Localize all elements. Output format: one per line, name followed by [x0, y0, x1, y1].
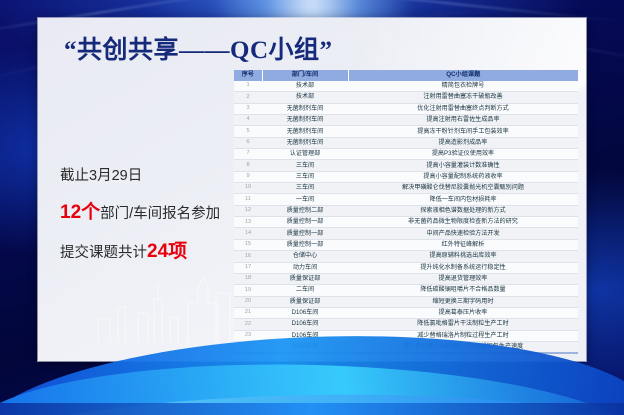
table-row: 20质量保证部缩短更换三期字码用时: [234, 296, 578, 307]
table-row: 18质量保证部提高退货管理效率: [234, 273, 578, 284]
content-panel: “共创共享——QC小组” 截止3月29日 12个部门/车间报名参加 提交课题共计…: [38, 18, 586, 361]
row-index: 14: [234, 228, 262, 239]
table-row: 10三车间解决甲磺酸仑伐替尼胶囊抛光机空囊甄别问题: [234, 183, 578, 194]
row-department: D106车间: [262, 341, 348, 353]
row-index: 9: [234, 171, 262, 182]
stat-departments-count: 12个: [60, 202, 100, 223]
row-department: 三车间: [262, 183, 348, 194]
table-row: 3无菌制剂车间优化注射用雷替曲塞终点判断方式: [234, 103, 578, 114]
row-department: 质量保证部: [262, 273, 348, 284]
row-department: 无菌制剂车间: [262, 137, 348, 148]
row-department: 质量控制一部: [262, 228, 348, 239]
decorative-wave: [0, 357, 624, 415]
row-department: 质量控制二部: [262, 205, 348, 216]
row-department: 无菌制剂车间: [262, 115, 348, 126]
row-index: 15: [234, 239, 262, 250]
summary-stats: 截止3月29日 12个部门/车间报名参加 提交课题共计24项: [60, 168, 260, 279]
table-row: 5无菌制剂车间提高冻干粉针剂车间手工包装效率: [234, 126, 578, 137]
row-department: 认证管理部: [262, 149, 348, 160]
row-department: 二车间: [262, 285, 348, 296]
row-index: 2: [234, 92, 262, 103]
row-department: 技术部: [262, 92, 348, 103]
row-index: 17: [234, 262, 262, 273]
row-topic: 提高冻干粉针剂车间手工包装效率: [348, 126, 578, 137]
row-topic: 提高小容量配制系统药液收率: [348, 171, 578, 182]
stat-topics-label: 提交课题共计: [60, 245, 147, 261]
table-row: 6无菌制剂车间提高造影剂成品率: [234, 137, 578, 148]
table-row: 12质量控制二部探索液相色谱数据处理的新方式: [234, 205, 578, 216]
row-topic: 提高注射用右雷佐生成品率: [348, 115, 578, 126]
stat-departments-label: 部门/车间报名参加: [100, 206, 220, 222]
column-header-topic: QC小组课题: [348, 70, 578, 81]
row-department: 动力车间: [262, 262, 348, 273]
page-title: “共创共享——QC小组”: [64, 30, 333, 66]
row-topic: 提升纯化水制备系统运行稳定性: [348, 262, 578, 273]
stat-deadline: 截止3月29日: [60, 168, 260, 185]
row-index: 12: [234, 205, 262, 216]
row-topic: 提高退货管理效率: [348, 273, 578, 284]
table-row: 1技术部精简包衣检牌号: [234, 81, 578, 92]
row-index: 5: [234, 126, 262, 137]
row-department: 仓储中心: [262, 251, 348, 262]
row-index: 4: [234, 115, 262, 126]
row-topic: 减少替格瑞洛片制粒过程生产工时: [348, 330, 578, 341]
row-topic: 降低氯吡格雷片干法制粒生产工时: [348, 319, 578, 330]
column-header-dept: 部门/车间: [262, 70, 348, 81]
row-department: 一车间: [262, 194, 348, 205]
row-department: D106车间: [262, 330, 348, 341]
row-index: 6: [234, 137, 262, 148]
table-row: 15质量控制一部红外特征峰解析: [234, 239, 578, 250]
row-index: 22: [234, 319, 262, 330]
row-topic: 提高造影剂成品率: [348, 137, 578, 148]
row-index: 3: [234, 103, 262, 114]
row-topic: 注射用雷替曲塞冻干破瓶改善: [348, 92, 578, 103]
row-department: 无菌制剂车间: [262, 103, 348, 114]
row-topic: 降低碳酸镧咀嚼片不合格品数量: [348, 285, 578, 296]
row-index: 23: [234, 330, 262, 341]
table-row: 16仓储中心提高原辅料挑选出库效率: [234, 251, 578, 262]
table-row: 24D106车间提升依伦平（14片/板）CA联线铝包生产速度: [234, 341, 578, 353]
table-header-row: 序号 部门/车间 QC小组课题: [234, 70, 578, 81]
decorative-wave-base: [0, 403, 624, 415]
stat-departments: 12个部门/车间报名参加: [60, 202, 260, 224]
row-department: 质量控制一部: [262, 239, 348, 250]
row-department: 三车间: [262, 171, 348, 182]
row-topic: 缩短更换三期字码用时: [348, 296, 578, 307]
row-index: 20: [234, 296, 262, 307]
slide-background: “共创共享——QC小组” 截止3月29日 12个部门/车间报名参加 提交课题共计…: [0, 0, 624, 415]
row-department: 无菌制剂车间: [262, 126, 348, 137]
table-row: 4无菌制剂车间提高注射用右雷佐生成品率: [234, 115, 578, 126]
row-department: 三车间: [262, 160, 348, 171]
stat-topics: 提交课题共计24项: [60, 241, 260, 263]
table-row: 9三车间提高小容量配制系统药液收率: [234, 171, 578, 182]
decorative-wave: [0, 389, 624, 415]
table-row: 22D106车间降低氯吡格雷片干法制粒生产工时: [234, 319, 578, 330]
table-row: 19二车间降低碳酸镧咀嚼片不合格品数量: [234, 285, 578, 296]
row-index: 21: [234, 307, 262, 318]
row-topic: 提高小容量灌装计数准确性: [348, 160, 578, 171]
row-index: 1: [234, 81, 262, 92]
row-department: 质量控制一部: [262, 217, 348, 228]
row-topic: 提高P3验证仪使用效率: [348, 149, 578, 160]
row-index: 24: [234, 341, 262, 353]
row-index: 8: [234, 160, 262, 171]
table-row: 2技术部注射用雷替曲塞冻干破瓶改善: [234, 92, 578, 103]
row-topic: 提升依伦平（14片/板）CA联线铝包生产速度: [348, 341, 578, 353]
qc-topics-table: 序号 部门/车间 QC小组课题 1技术部精简包衣检牌号2技术部注射用雷替曲塞冻干…: [234, 70, 578, 354]
row-topic: 提高原辅料挑选出库效率: [348, 251, 578, 262]
stat-deadline-text: 截止3月29日: [60, 168, 142, 184]
column-header-no: 序号: [234, 70, 262, 81]
row-topic: 优化注射用雷替曲塞终点判断方式: [348, 103, 578, 114]
row-topic: 解决甲磺酸仑伐替尼胶囊抛光机空囊甄别问题: [348, 183, 578, 194]
row-index: 18: [234, 273, 262, 284]
table-row: 21D106车间提高葛泰压片收率: [234, 307, 578, 318]
row-index: 19: [234, 285, 262, 296]
qc-table-container: 序号 部门/车间 QC小组课题 1技术部精简包衣检牌号2技术部注射用雷替曲塞冻干…: [234, 70, 578, 354]
row-topic: 非无菌药品微生物限度检查新方法的研究: [348, 217, 578, 228]
row-index: 10: [234, 183, 262, 194]
row-department: 技术部: [262, 81, 348, 92]
table-row: 8三车间提高小容量灌装计数准确性: [234, 160, 578, 171]
row-department: D106车间: [262, 307, 348, 318]
row-index: 7: [234, 149, 262, 160]
table-row: 17动力车间提升纯化水制备系统运行稳定性: [234, 262, 578, 273]
table-row: 14质量控制一部中间产品快速检验方法开发: [234, 228, 578, 239]
row-index: 11: [234, 194, 262, 205]
row-index: 13: [234, 217, 262, 228]
row-topic: 探索液相色谱数据处理的新方式: [348, 205, 578, 216]
row-topic: 精简包衣检牌号: [348, 81, 578, 92]
row-department: 质量保证部: [262, 296, 348, 307]
table-row: 23D106车间减少替格瑞洛片制粒过程生产工时: [234, 330, 578, 341]
qc-table-body: 1技术部精简包衣检牌号2技术部注射用雷替曲塞冻干破瓶改善3无菌制剂车间优化注射用…: [234, 81, 578, 353]
row-topic: 提高葛泰压片收率: [348, 307, 578, 318]
table-row: 11一车间降低一车间内包材损耗率: [234, 194, 578, 205]
table-row: 7认证管理部提高P3验证仪使用效率: [234, 149, 578, 160]
row-topic: 降低一车间内包材损耗率: [348, 194, 578, 205]
row-department: D106车间: [262, 319, 348, 330]
stat-topics-count: 24项: [147, 241, 187, 262]
row-index: 16: [234, 251, 262, 262]
row-topic: 红外特征峰解析: [348, 239, 578, 250]
row-topic: 中间产品快速检验方法开发: [348, 228, 578, 239]
table-row: 13质量控制一部非无菌药品微生物限度检查新方法的研究: [234, 217, 578, 228]
